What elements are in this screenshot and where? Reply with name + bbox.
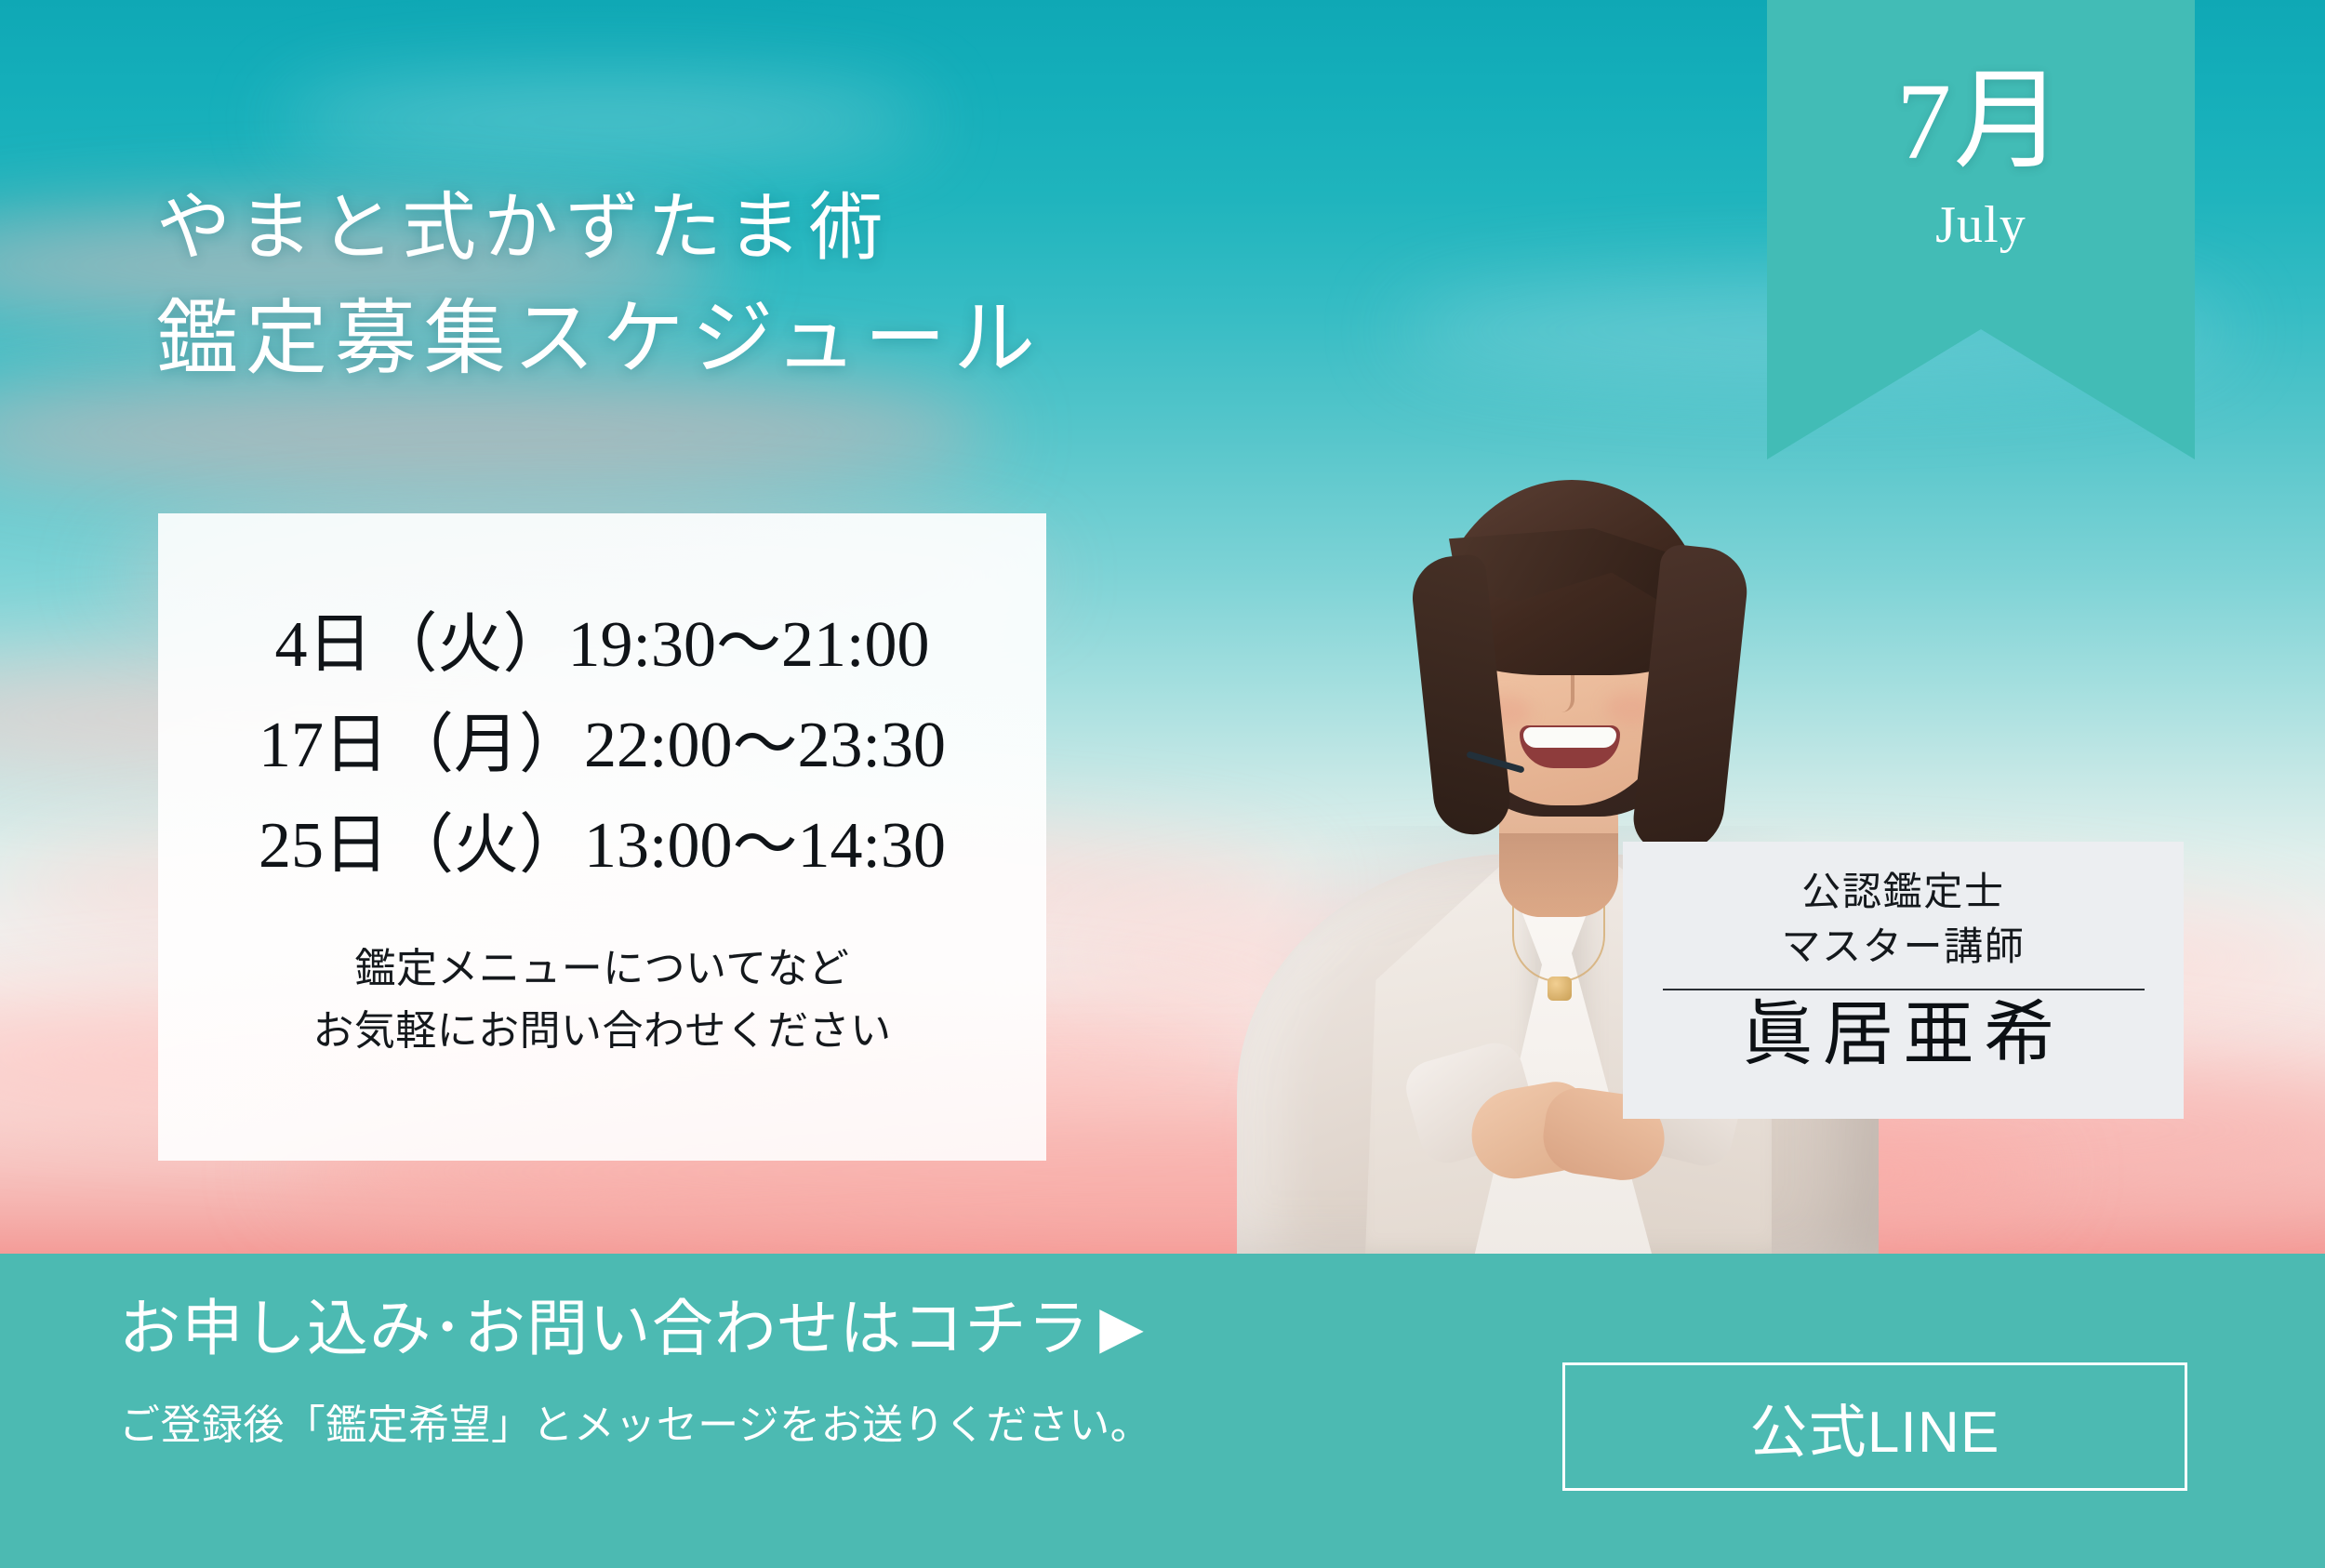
- schedule-row: 17日（月）22:00〜23:30: [158, 696, 1046, 796]
- schedule-note: 鑑定メニューについてなど お気軽にお問い合わせください: [158, 938, 1046, 1063]
- profile-name: 眞居亜希: [1742, 996, 2065, 1075]
- portrait-teeth: [1523, 727, 1616, 748]
- footer-cta-headline-text: お申し込み･お問い合わせはコチラ: [119, 1295, 1090, 1362]
- portrait-pendant: [1548, 977, 1572, 1001]
- ribbon-month-jp: 7月: [1896, 67, 2066, 177]
- profile-role: 公認鑑定士 マスター講師: [1781, 866, 2025, 976]
- portrait-smile: [1520, 725, 1620, 768]
- page-title: やまと式かずたま術 鑑定募集スケジュール: [156, 177, 1043, 399]
- profile-card: 公認鑑定士 マスター講師 眞居亜希: [1623, 842, 2184, 1119]
- official-line-button[interactable]: 公式LINE: [1562, 1362, 2187, 1491]
- title-line-2: 鑑定募集スケジュール: [156, 283, 1043, 399]
- ribbon-month-en: July: [1935, 199, 2026, 251]
- schedule-row: 4日（火）19:30〜21:00: [158, 595, 1046, 696]
- portrait-neck-shadow: [1499, 833, 1618, 917]
- title-line-1: やまと式かずたま術: [156, 177, 1043, 283]
- schedule-panel: 4日（火）19:30〜21:00 17日（月）22:00〜23:30 25日（火…: [158, 513, 1046, 1161]
- schedule-row: 25日（火）13:00〜14:30: [158, 796, 1046, 897]
- official-line-button-label: 公式LINE: [1749, 1385, 1999, 1468]
- portrait-nose: [1554, 675, 1574, 712]
- schedule-list: 4日（火）19:30〜21:00 17日（月）22:00〜23:30 25日（火…: [158, 595, 1046, 896]
- flyer-canvas: やまと式かずたま術 鑑定募集スケジュール 7月 July 4日（火）19:30〜…: [0, 0, 2325, 1568]
- footer-cta-headline: お申し込み･お問い合わせはコチラ ▶: [119, 1295, 1151, 1362]
- profile-role-line-2: マスター講師: [1781, 921, 2025, 976]
- footer-cta-subtext: ご登録後「鑑定希望」とメッセージをお送りください。: [119, 1402, 1151, 1451]
- profile-divider: [1663, 989, 2145, 990]
- schedule-note-line-1: 鑑定メニューについてなど: [158, 938, 1046, 1001]
- schedule-note-line-2: お気軽にお問い合わせください: [158, 1001, 1046, 1063]
- profile-role-line-1: 公認鑑定士: [1781, 866, 2025, 921]
- right-triangle-arrow-icon: ▶: [1099, 1299, 1145, 1357]
- footer-text-block: お申し込み･お問い合わせはコチラ ▶ ご登録後「鑑定希望」とメッセージをお送りく…: [119, 1295, 1151, 1450]
